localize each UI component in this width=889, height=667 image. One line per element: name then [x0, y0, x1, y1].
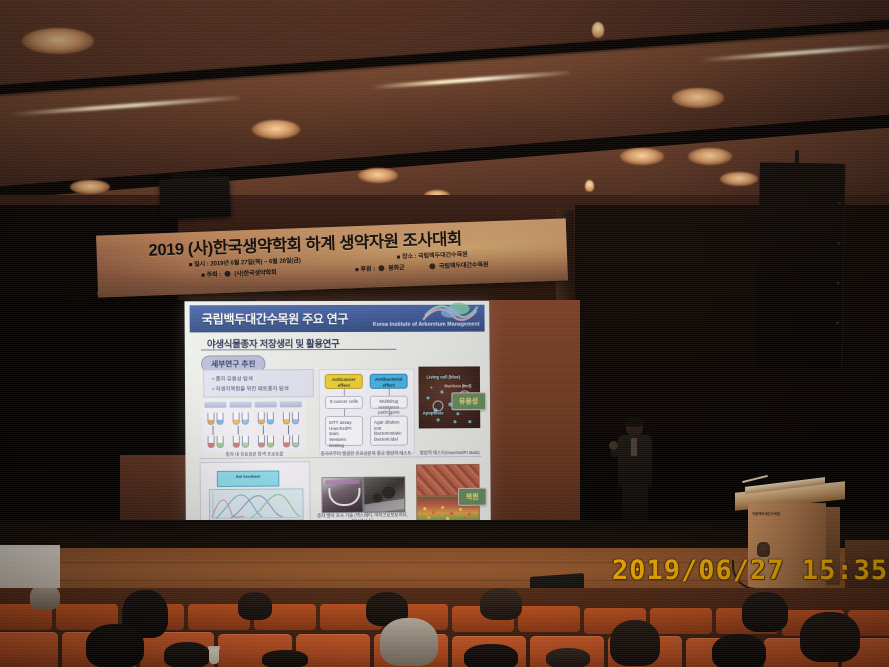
downlight-icon: [252, 120, 300, 139]
audience-head: [742, 592, 788, 632]
sponsor-logo-icon: [378, 265, 384, 271]
slide-logo-text: Korea Institute of Arboretum Management: [373, 322, 480, 328]
micro-label-living: Living cell (blue): [426, 374, 460, 379]
camera-timestamp: 2019/06/27 15:35: [612, 555, 888, 586]
auditorium-seat: [0, 632, 58, 667]
presenter-shirt: [631, 438, 637, 456]
flow-items-right: Agar dilution test Bacteriostatic Bacter…: [370, 416, 408, 446]
slide-bullet-box: • 종자 유용성 탐색 • 자생지복원을 위한 매토종자 탐색: [203, 369, 314, 398]
audience-head: [464, 644, 518, 667]
graph-curves: [210, 489, 303, 520]
downlight-icon: [720, 172, 758, 186]
banner-sponsor-2: 국립백두대간수목원: [427, 259, 488, 270]
flow-box-antibacterial: Antibacterial effect: [370, 374, 408, 389]
flow-sub-cancer: 8 cancer cells: [325, 396, 363, 409]
audience-head: [380, 618, 438, 666]
coffee-cup: [209, 649, 219, 664]
seed-photo: [363, 476, 405, 512]
arboretum-logo-icon: [419, 302, 481, 324]
slide-header: 국립백두대간수목원 주요 연구 Korea Institute of Arbor…: [190, 305, 485, 333]
seedbank-panel: Soil Seedbank: [200, 461, 311, 526]
audience-head: [164, 642, 210, 667]
pendant-light-icon: [585, 180, 594, 192]
audience-head: [712, 634, 766, 667]
host-logo-icon: [225, 271, 231, 277]
presenter: [612, 418, 658, 530]
assay-flow-chart: Anticancer effect Antibacterial effect 8…: [319, 369, 415, 454]
arboretum-logo-icon: [429, 264, 435, 270]
slide-subtitle-rule: [201, 349, 396, 351]
downlight-icon: [22, 28, 94, 54]
conference-photo: 2019 (사)한국생약학회 하계 생약자원 조사대회 일시 : 2019년 6…: [0, 0, 889, 667]
downlight-icon: [70, 180, 110, 194]
tag-utility: 유용성: [451, 392, 486, 410]
hanging-speaker-left: [159, 176, 231, 220]
banner-venue: 장소 : 국립백두대간수목원: [397, 249, 468, 261]
downlight-icon: [620, 148, 664, 165]
soil-seedbank-box: Soil Seedbank: [217, 470, 279, 487]
pendant-light-icon: [592, 22, 604, 38]
downlight-icon: [672, 88, 724, 108]
micro-label-nucleus: Nucleus (red): [444, 383, 471, 388]
slide-bullet-2: • 자생지복원을 위한 매토종자 탐색: [212, 384, 288, 392]
flow-sub-bacteria: Multidrug resistance pathogens: [370, 396, 408, 409]
projected-slide: 국립백두대간수목원 주요 연구 Korea Institute of Arbor…: [184, 301, 490, 537]
protocol-diagram: [202, 399, 306, 452]
hanging-speaker-right: [756, 162, 846, 368]
audience-head: [546, 648, 590, 667]
xray-seed-image: [321, 477, 363, 513]
podium-label: 국립백두대간수목원: [752, 511, 780, 516]
audience-head: [262, 650, 308, 667]
presenter-hand: [609, 441, 618, 450]
banner-sponsor-label: 후원 : 봉화군: [355, 262, 405, 273]
audience-head: [238, 592, 272, 620]
audience-head: [30, 588, 60, 610]
flow-items-left: MTT assay Hoechst/PI stain Western blott…: [325, 416, 363, 446]
slide-header-title: 국립백두대간수목원 주요 연구: [202, 310, 348, 327]
audience-head: [86, 624, 144, 667]
slide-bullet-1: • 종자 유용성 탐색: [212, 374, 253, 382]
banner-date: 일시 : 2019년 6월 27일(목) ~ 6월 28일(금): [189, 255, 301, 268]
audience-head: [800, 612, 860, 662]
flow-box-anticancer: Anticancer effect: [325, 374, 363, 389]
presenter-hair: [625, 417, 644, 427]
downlight-icon: [688, 148, 732, 165]
audience-area: [0, 588, 889, 667]
germination-graph: [209, 488, 304, 521]
audience-head: [480, 588, 522, 620]
stage-wall-brown: [490, 300, 580, 540]
micro-label-apoptosis: Apoptosis: [423, 410, 444, 415]
banner-host: 주최 : (사)한국생약학회: [201, 267, 276, 279]
downlight-icon: [358, 168, 398, 183]
podium-microphone-icon: [742, 475, 768, 483]
slide-subtitle-wrap: 야생식물종자 저장생리 및 활용연구: [195, 336, 485, 352]
tag-restoration: 복원: [458, 488, 487, 506]
audience-head: [610, 620, 660, 666]
